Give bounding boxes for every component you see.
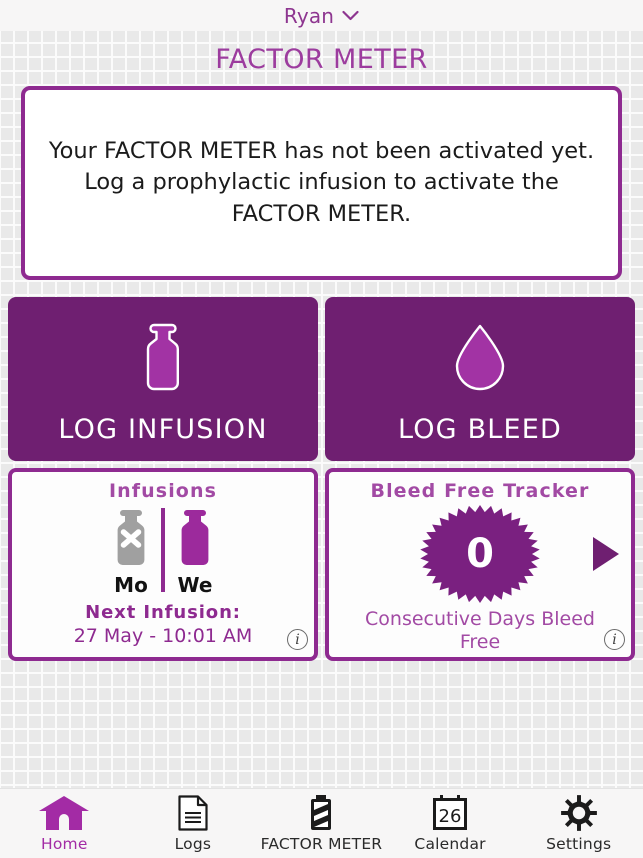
- vial-missed-icon: [111, 508, 151, 572]
- log-infusion-button[interactable]: LOG INFUSION: [8, 297, 318, 461]
- nav-item-factor-meter[interactable]: FACTOR METER: [257, 789, 386, 858]
- nav-label-logs: Logs: [175, 835, 212, 853]
- nav-label-settings: Settings: [546, 835, 611, 853]
- bleed-tracker-caption: Consecutive Days Bleed Free: [335, 608, 625, 654]
- starburst-badge: 0: [419, 504, 541, 604]
- infusions-widget[interactable]: Infusions Mo: [8, 468, 318, 661]
- log-bleed-label: LOG BLEED: [398, 414, 562, 445]
- widget-grid: LOG INFUSION LOG BLEED Infusions: [8, 297, 635, 661]
- infusion-day-label: Mo: [114, 573, 148, 597]
- chevron-down-icon[interactable]: [342, 6, 359, 25]
- nav-item-logs[interactable]: Logs: [129, 789, 258, 858]
- nav-label-home: Home: [41, 835, 88, 853]
- play-arrow-icon[interactable]: [593, 537, 619, 571]
- page-body: FACTOR METER Your FACTOR METER has not b…: [0, 31, 643, 788]
- infusions-widget-title: Infusions: [109, 480, 217, 502]
- home-icon: [38, 794, 90, 832]
- infusion-schedule-row: Mo We: [106, 508, 220, 597]
- nav-item-home[interactable]: Home: [0, 789, 129, 858]
- account-bar[interactable]: Ryan: [0, 0, 643, 31]
- nav-item-calendar[interactable]: 26 Calendar: [386, 789, 515, 858]
- log-bleed-button[interactable]: LOG BLEED: [325, 297, 635, 461]
- nav-item-settings[interactable]: Settings: [514, 789, 643, 858]
- notice-message: Your FACTOR METER has not been activated…: [43, 136, 600, 229]
- info-icon[interactable]: i: [604, 629, 625, 650]
- vial-icon: [175, 508, 215, 572]
- blood-drop-icon: [449, 321, 511, 397]
- nav-label-calendar: Calendar: [414, 835, 485, 853]
- schedule-divider: [161, 508, 165, 592]
- account-name: Ryan: [284, 4, 334, 28]
- factor-meter-notice-card: Your FACTOR METER has not been activated…: [21, 86, 622, 280]
- page-title: FACTOR METER: [8, 31, 635, 86]
- next-infusion-label: Next Infusion:: [74, 602, 253, 623]
- svg-text:26: 26: [439, 806, 462, 827]
- infusion-dose-we[interactable]: We: [170, 508, 220, 597]
- next-infusion-value: 27 May - 10:01 AM: [74, 625, 253, 647]
- bleed-free-badge-wrap: 0: [335, 504, 625, 604]
- log-infusion-label: LOG INFUSION: [58, 414, 267, 445]
- battery-icon: [307, 794, 335, 832]
- next-infusion-block: Next Infusion: 27 May - 10:01 AM: [74, 602, 253, 651]
- bottom-navigation: Home Logs FACTOR METER: [0, 788, 643, 858]
- gear-icon: [560, 794, 598, 832]
- vial-icon: [140, 321, 186, 397]
- bleed-free-tracker-widget[interactable]: Bleed Free Tracker 0 Consecutive Days Bl…: [325, 468, 635, 661]
- nav-label-factor-meter: FACTOR METER: [261, 835, 383, 853]
- bleed-tracker-title: Bleed Free Tracker: [370, 480, 589, 502]
- bleed-free-count: 0: [466, 534, 494, 574]
- infusion-day-label: We: [178, 573, 213, 597]
- info-icon[interactable]: i: [287, 629, 308, 650]
- infusion-dose-mo[interactable]: Mo: [106, 508, 156, 597]
- document-icon: [177, 794, 209, 832]
- calendar-icon: 26: [431, 794, 469, 832]
